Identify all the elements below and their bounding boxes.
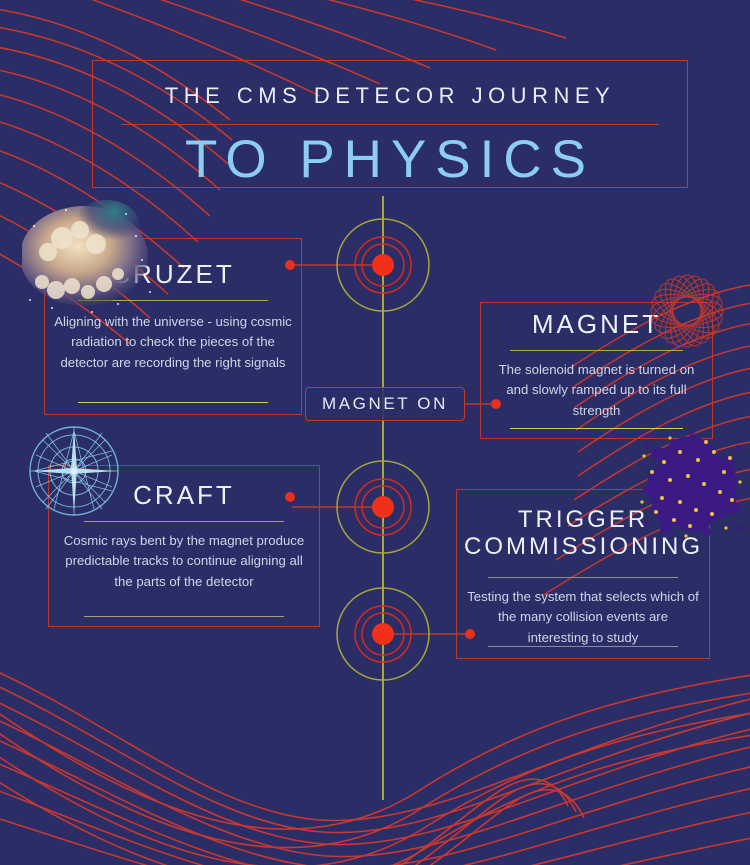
timeline-node-cruzet	[337, 219, 429, 311]
card-cruzet-title: CRUZET	[52, 260, 294, 289]
page-title: TO PHYSICS	[93, 133, 687, 186]
infographic-canvas: THE CMS DETECOR JOURNEY TO PHYSICS	[0, 0, 750, 865]
card-craft: CRAFT Cosmic rays bent by the magnet pro…	[48, 465, 320, 627]
card-trigger-rule-bottom	[488, 646, 678, 647]
card-craft-title: CRAFT	[56, 481, 312, 510]
page-subtitle: THE CMS DETECOR JOURNEY	[93, 83, 687, 109]
card-trigger-body: Testing the system that selects which of…	[466, 587, 700, 648]
bottom-wave-lines	[0, 664, 750, 865]
card-magnet-title: MAGNET	[488, 310, 705, 339]
card-craft-rule-bottom	[84, 616, 284, 617]
timeline-node-craft	[337, 461, 429, 553]
card-cruzet-rule-top	[78, 300, 268, 301]
card-craft-body: Cosmic rays bent by the magnet produce p…	[58, 531, 310, 592]
title-block: THE CMS DETECOR JOURNEY TO PHYSICS	[92, 60, 688, 188]
card-trigger-rule-top	[488, 577, 678, 578]
card-magnet-rule-top	[510, 350, 683, 351]
title-divider	[121, 124, 659, 125]
timeline-node-trigger	[337, 588, 429, 680]
card-cruzet: CRUZET Aligning with the universe - usin…	[44, 238, 302, 415]
card-trigger-title: TRIGGER COMMISSIONING	[464, 507, 702, 561]
card-trigger: TRIGGER COMMISSIONING Testing the system…	[456, 489, 710, 659]
magnet-on-label: MAGNET ON	[322, 394, 448, 414]
card-magnet: MAGNET The solenoid magnet is turned on …	[480, 302, 713, 439]
card-cruzet-body: Aligning with the universe - using cosmi…	[54, 312, 292, 373]
magnet-on-badge: MAGNET ON	[305, 387, 465, 421]
card-magnet-body: The solenoid magnet is turned on and slo…	[490, 360, 703, 421]
card-magnet-rule-bottom	[510, 428, 683, 429]
card-cruzet-rule-bottom	[78, 402, 268, 403]
card-craft-rule-top	[84, 521, 284, 522]
